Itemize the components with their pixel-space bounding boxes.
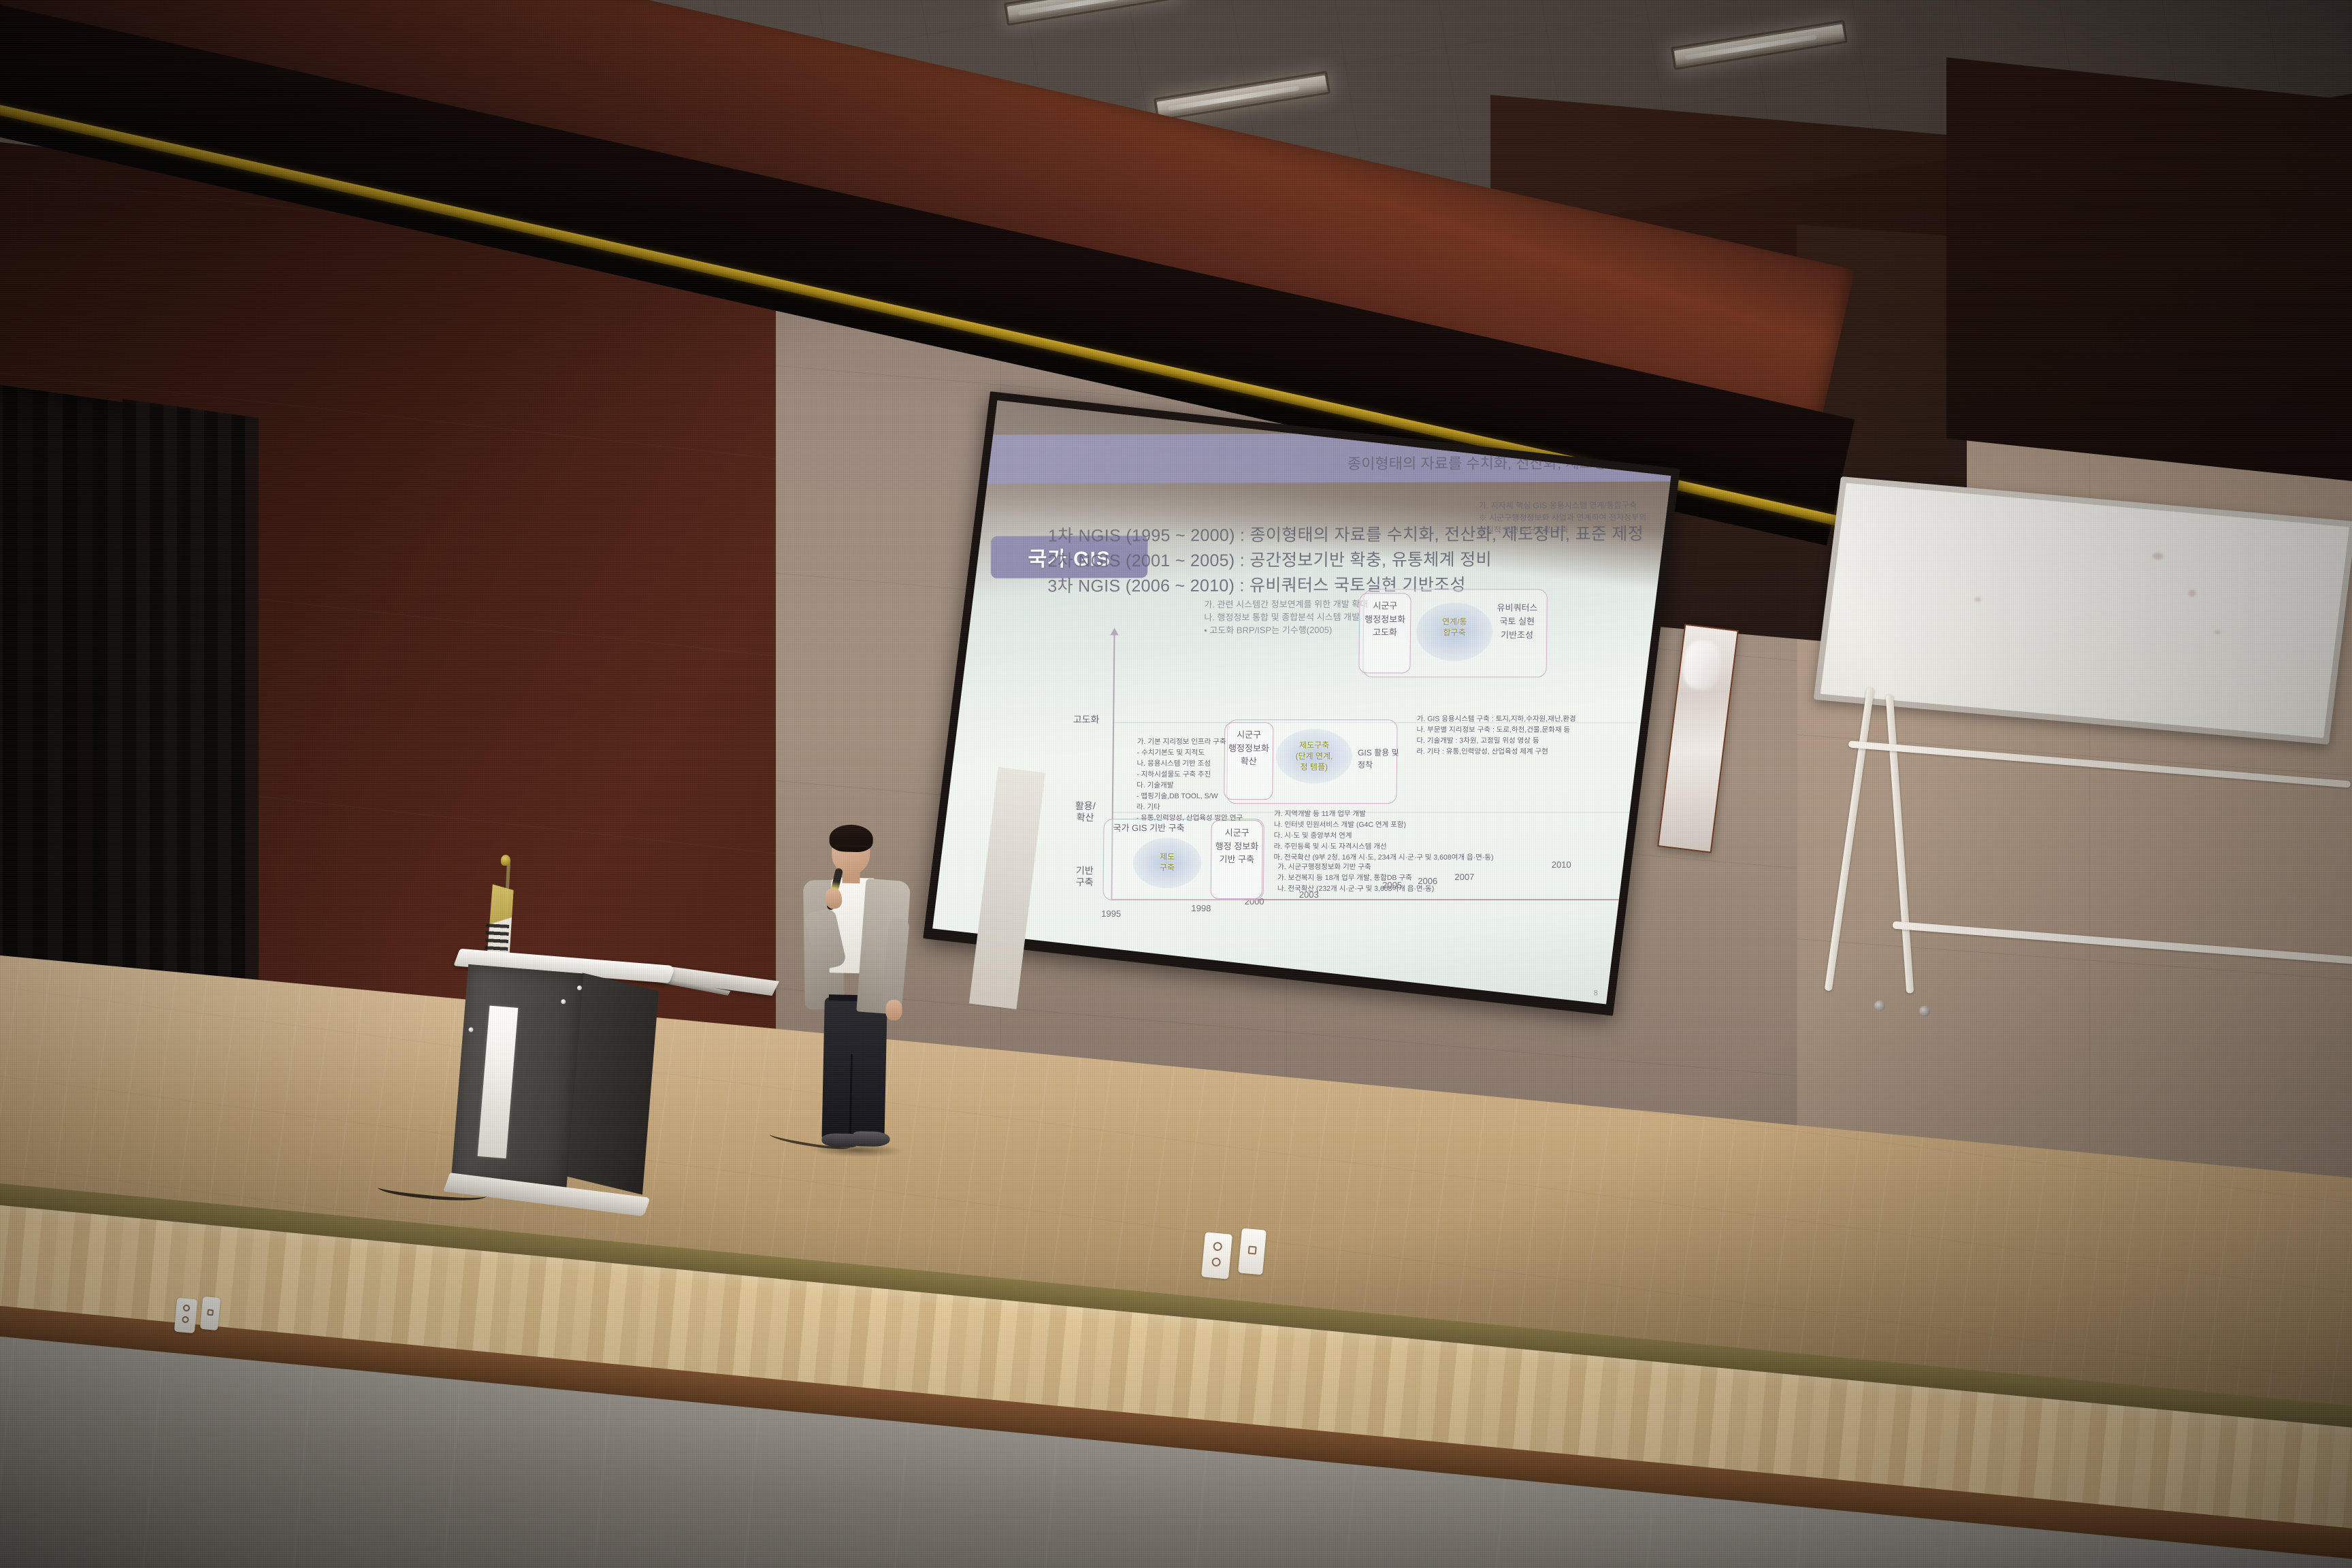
chart-year-tick: 1998 — [1191, 903, 1211, 913]
phase-note: - 맵핑기술,DB TOOL, S/W — [1137, 791, 1243, 802]
whiteboard-caster — [1874, 1000, 1885, 1011]
phase-tab-label: 시군구 행정정보화 고도화 — [1358, 593, 1411, 674]
presenter-right-shoe — [853, 1131, 889, 1147]
whiteboard-surface[interactable] — [1820, 483, 2349, 738]
phase-note: 가. 지역개발 등 11개 업무 개발 — [1274, 809, 1494, 820]
presenter — [786, 828, 922, 1157]
presenter-left-shoe — [821, 1133, 857, 1147]
slide-bullet: 3차 NGIS (2006 ~ 2010) : 유비쿼터스 국토실현 기반조성 — [1047, 572, 1647, 600]
phase-right-label: 유비쿼터스 국토 실현 기반조성 — [1497, 602, 1537, 642]
power-outlet[interactable] — [174, 1298, 197, 1334]
phase-note: 가. 시군구행정정보화 기반 구축 — [1277, 862, 1435, 873]
power-outlet[interactable] — [1201, 1232, 1232, 1279]
phase-blob-label: 연계/통 합구축 — [1422, 617, 1487, 638]
phase-tab-label: 시군구 행정 정보화 기반 구축 — [1211, 820, 1263, 899]
phase-note: 다. 시·도 및 중앙부처 연계 — [1274, 831, 1494, 842]
chart-year-tick: 1995 — [1101, 909, 1121, 919]
phase-note: - 유통,인력양성, 산업육성 방안 연구 — [1137, 813, 1243, 824]
phase-note: 나. 응용시스템 기반 조성 — [1137, 759, 1243, 770]
phase-note-list: 가. GIS 응용시스템 구축 : 토지,지하,수자원,재난,환경 나. 부문별… — [1416, 714, 1576, 757]
slide-timeline-chart: 고도화 활용/ 확산 기반 구축 1995 1998 2000 2003 200… — [1062, 634, 1630, 919]
phase-note: - 수치기본도 및 지적도 — [1137, 748, 1244, 759]
phase-note: 라. 기타 — [1137, 802, 1243, 813]
whiteboard[interactable] — [1814, 476, 2352, 745]
podium-fastener — [468, 1027, 474, 1032]
phase-blob-label: 제도구축 (단계 연계, 정 템플) — [1279, 740, 1350, 773]
av-jack-plate[interactable] — [200, 1296, 220, 1330]
phase-note-list: 가. 기본 지리정보 인프라 구축 - 수치기본도 및 지적도 나. 응용시스템… — [1137, 737, 1244, 823]
phase-blob-label: 제도 구축 — [1139, 851, 1196, 873]
right-wall-shadow-panel — [1946, 57, 2352, 487]
phase-note: 다. 기술개발 — [1137, 781, 1243, 791]
podium-white-stripe — [478, 1006, 519, 1159]
phase-note-list: 가. 지역개발 등 11개 업무 개발 나. 인터넷 민원서비스 개발 (G4C… — [1273, 809, 1494, 864]
auditorium-scene: 종이형태의 자료를 수치화, 전산화, 제도정비, 표준 국가 GIS 1차 N… — [0, 0, 2352, 1568]
phase-note: 나. 부문별 지리정보 구축 : 도로,하천,건물,문화재 등 — [1416, 725, 1575, 736]
chart-y-label: 기반 구축 — [1062, 865, 1107, 888]
phase-note: 가. 기본 지리정보 인프라 구축 — [1137, 737, 1244, 748]
chart-y-label: 고도화 — [1064, 714, 1109, 725]
phase-note-list: 가. 시군구행정정보화 기반 구축 가. 보건복지 등 18개 업무 개발, 통… — [1277, 862, 1435, 895]
phase-note: 나. 전국확산 (232개 시·군·구 및 3,608여개 읍·면·동) — [1277, 884, 1435, 895]
chart-year-tick: 2007 — [1454, 872, 1474, 882]
phase-note: 라. 기타 : 유통,인력양성, 산업육성 체계 구현 — [1416, 747, 1575, 757]
slide-bullet-list: 1차 NGIS (1995 ~ 2000) : 종이형태의 자료를 수치화, 전… — [1047, 522, 1648, 638]
flag-finial — [501, 855, 510, 866]
phase-right-label: GIS 활용 및 정착 — [1358, 747, 1399, 771]
slide-header-right-note: ※ 시군구행정정보화 사업과 연계하여 전자정부의 — [1479, 510, 1671, 524]
presenter-glasses — [834, 845, 868, 852]
podium-fastener — [561, 999, 566, 1004]
phase-note: 라. 주민등록 및 시·도 자격시스템 개선 — [1273, 842, 1493, 853]
phase-note: - 지하시설물도 구축 추진 — [1137, 770, 1243, 781]
slide-header-right-note: 가. 지자체 핵심 GIS 응용시스템 연계/통합구축 — [1479, 498, 1671, 512]
phase-note: 나. 인터넷 민원서비스 개발 (G4C 연계 포함) — [1274, 820, 1494, 831]
slide-page-number: 8 — [1594, 990, 1598, 998]
podium-front-panel — [451, 964, 584, 1191]
slide-header-right-notes: 가. 지자체 핵심 GIS 응용시스템 연계/통합구축 ※ 시군구행정정보화 사… — [1479, 498, 1671, 536]
av-jack-plate[interactable] — [1238, 1228, 1267, 1275]
slide-header-right-note: 실질적 구현 수단으로 구축 — [1479, 523, 1671, 536]
phase-note: 가. GIS 응용시스템 구축 : 토지,지하,수자원,재난,환경 — [1417, 714, 1576, 725]
projection-screen[interactable]: 종이형태의 자료를 수치화, 전산화, 제도정비, 표준 국가 GIS 1차 N… — [923, 391, 1680, 1016]
phase-note: 가. 보건복지 등 18개 업무 개발, 통합DB 구축 — [1277, 873, 1435, 884]
whiteboard-caster — [1919, 1006, 1930, 1017]
chart-year-tick: 2010 — [1552, 860, 1571, 870]
phase-note: 다. 기술개발 : 3차원, 고정밀 위성 영상 등 — [1416, 736, 1575, 747]
screen-surface: 종이형태의 자료를 수치화, 전산화, 제도정비, 표준 국가 GIS 1차 N… — [932, 400, 1671, 1004]
presenter-trousers — [821, 997, 887, 1140]
slide-bullet: 2차 NGIS (2001 ~ 2005) : 공간정보기반 확충, 유통체계 … — [1047, 547, 1647, 574]
podium-fastener — [577, 985, 583, 991]
presenter-right-hand — [885, 1000, 902, 1020]
chart-y-label: 활용/ 확산 — [1062, 800, 1107, 823]
